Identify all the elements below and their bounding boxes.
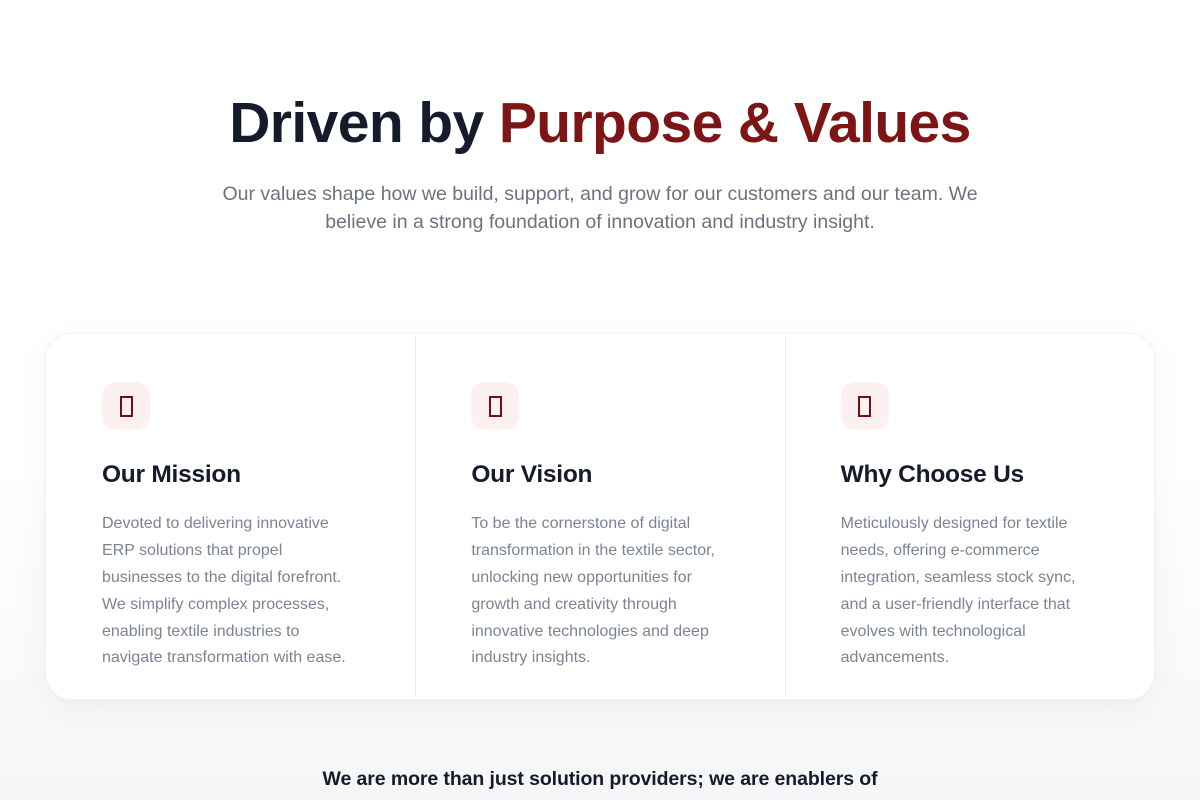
missing-glyph-icon	[102, 382, 150, 430]
card-title: Our Vision	[471, 461, 728, 489]
card-title: Our Mission	[102, 461, 359, 489]
missing-glyph-icon	[471, 382, 519, 430]
tofu-box-glyph	[858, 396, 871, 417]
card-body: To be the cornerstone of digital transfo…	[471, 511, 723, 672]
card-body: Meticulously designed for textile needs,…	[841, 511, 1093, 672]
values-section-page: Driven by Purpose & Values Our values sh…	[0, 0, 1200, 800]
tofu-box-glyph	[120, 396, 133, 417]
value-card-why-choose-us: Why Choose Us Meticulously designed for …	[785, 334, 1154, 699]
section-header: Driven by Purpose & Values Our values sh…	[0, 0, 1200, 237]
value-card-mission: Our Mission Devoted to delivering innova…	[46, 334, 415, 699]
page-title-accent: Purpose & Values	[499, 91, 971, 155]
page-title: Driven by Purpose & Values	[0, 92, 1200, 156]
missing-glyph-icon	[841, 382, 889, 430]
card-body: Devoted to delivering innovative ERP sol…	[102, 511, 354, 672]
page-title-lead: Driven by	[229, 91, 499, 155]
tofu-box-glyph	[489, 396, 502, 417]
bottom-statement: We are more than just solution providers…	[0, 768, 1200, 791]
values-card-container: Our Mission Devoted to delivering innova…	[45, 333, 1155, 700]
section-subtitle: Our values shape how we build, support, …	[220, 180, 980, 237]
value-card-vision: Our Vision To be the cornerstone of digi…	[415, 334, 784, 699]
card-title: Why Choose Us	[841, 461, 1098, 489]
